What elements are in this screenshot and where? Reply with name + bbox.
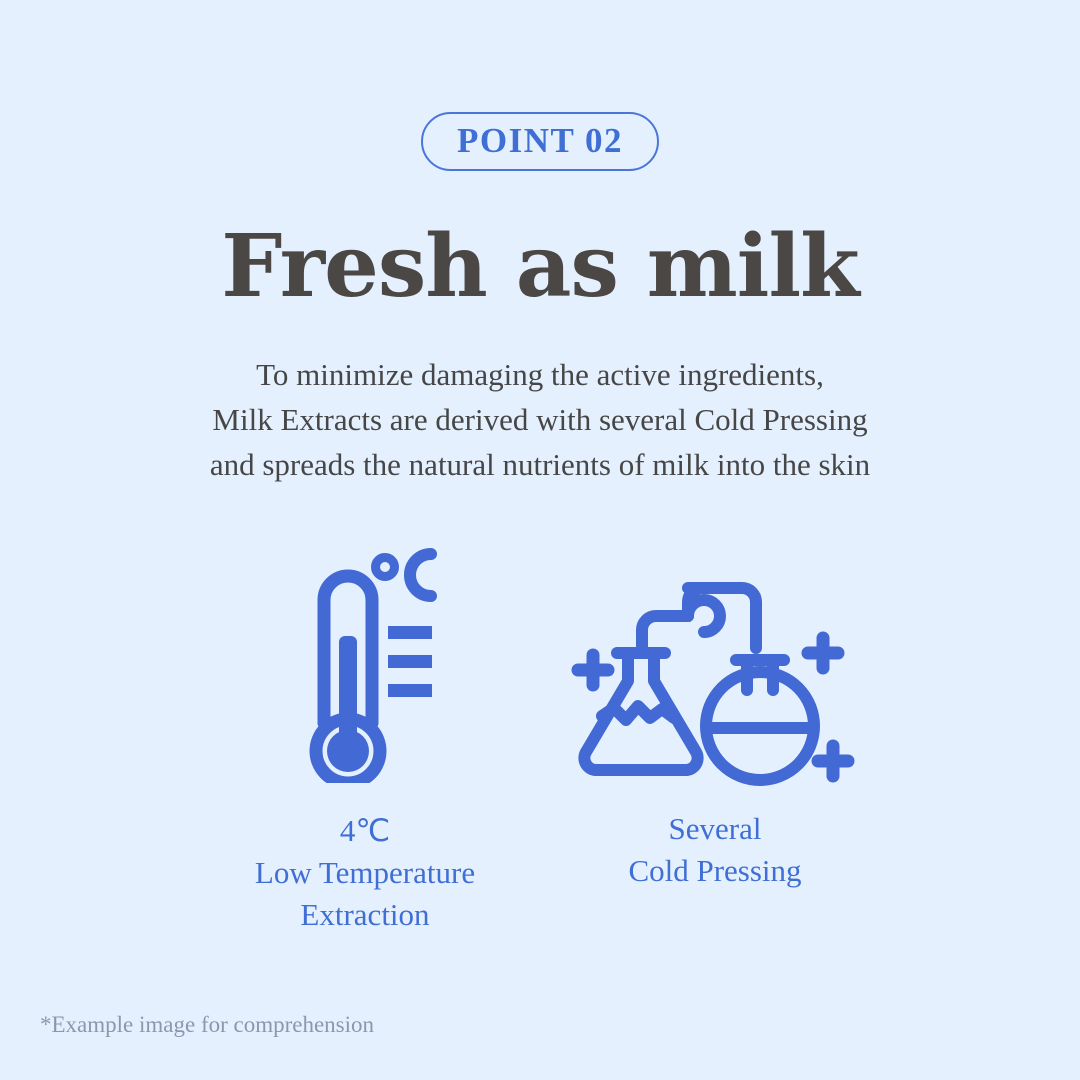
point-badge: POINT 02 [421, 112, 659, 171]
description-line-3: and spreads the natural nutrients of mil… [0, 442, 1080, 487]
thermometer-tick-3 [388, 684, 432, 697]
badge-row: POINT 02 [0, 112, 1080, 171]
caption-line-3: Extraction [255, 894, 475, 936]
page-title: Fresh as milk [0, 222, 1080, 312]
feature-caption-cold-pressing: Several Cold Pressing [628, 808, 801, 892]
thermometer-bulb-fill [327, 730, 369, 772]
sparkle-plus-top-right [808, 638, 838, 668]
thermometer-icon [290, 548, 440, 783]
sparkle-plus-bottom-right [818, 746, 848, 776]
thermometer-tick-2 [388, 655, 432, 668]
thermometer-icon-wrap [290, 548, 440, 798]
sparkle-plus-left [578, 655, 608, 685]
thermometer-mercury [339, 636, 357, 746]
caption-line-2: Cold Pressing [628, 850, 801, 892]
poster-canvas: POINT 02 Fresh as milk To minimize damag… [0, 0, 1080, 1080]
description-line-2: Milk Extracts are derived with several C… [0, 397, 1080, 442]
feature-low-temperature: 4℃ Low Temperature Extraction [190, 548, 540, 936]
caption-line-2: Low Temperature [255, 852, 475, 894]
footnote-disclaimer: *Example image for comprehension [40, 1011, 374, 1039]
thermometer-tick-1 [388, 626, 432, 639]
tube-left-segment [642, 616, 688, 648]
lab-flasks-icon-wrap [570, 548, 860, 798]
feature-cold-pressing: Several Cold Pressing [540, 548, 890, 892]
caption-line-1: Several [628, 808, 801, 850]
lab-flasks-icon [570, 548, 860, 788]
degree-celsius-glyph [376, 554, 432, 596]
feature-caption-low-temperature: 4℃ Low Temperature Extraction [255, 810, 475, 936]
description-line-1: To minimize damaging the active ingredie… [0, 352, 1080, 397]
description-paragraph: To minimize damaging the active ingredie… [0, 352, 1080, 487]
feature-row: 4℃ Low Temperature Extraction [0, 548, 1080, 936]
caption-line-1: 4℃ [255, 810, 475, 852]
